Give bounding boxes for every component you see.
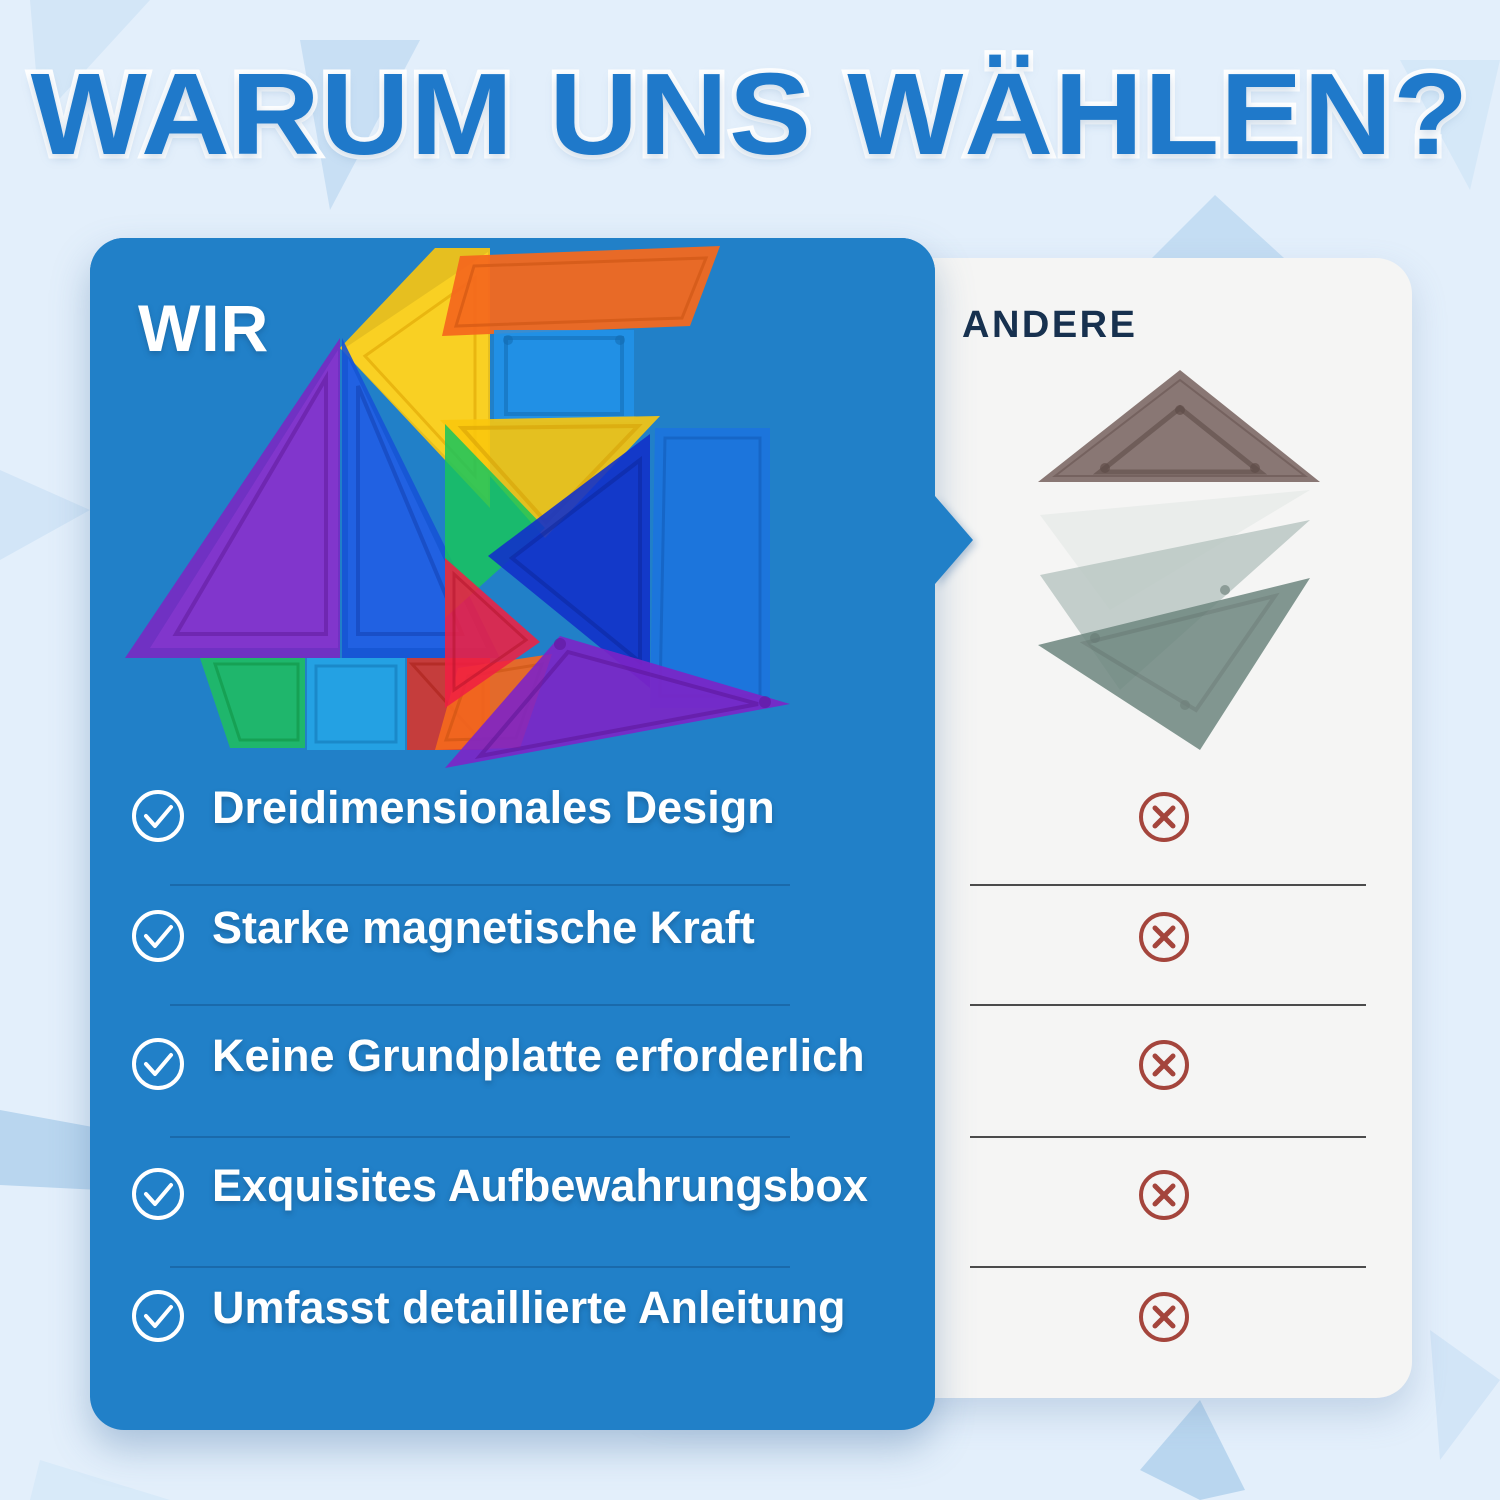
- check-circle-icon: [130, 788, 186, 844]
- feature-label: Umfasst detaillierte Anleitung: [212, 1282, 845, 1334]
- x-circle-icon: [1137, 1168, 1191, 1222]
- others-product-image: [1010, 360, 1350, 750]
- check-circle-icon: [130, 1166, 186, 1222]
- comparison-poster: WARUM UNS WÄHLEN? ANDERE: [0, 0, 1500, 1500]
- x-circle-icon: [1137, 910, 1191, 964]
- feature-row[interactable]: Starke magnetische Kraft: [0, 882, 1500, 1010]
- check-circle-icon: [130, 908, 186, 964]
- check-circle-icon: [130, 1288, 186, 1344]
- feature-row[interactable]: Umfasst detaillierte Anleitung: [0, 1262, 1500, 1390]
- check-circle-icon: [130, 1036, 186, 1092]
- x-circle-icon: [1137, 790, 1191, 844]
- feature-label: Exquisites Aufbewahrungsbox: [212, 1160, 868, 1212]
- others-column-title: ANDERE: [962, 304, 1137, 347]
- feature-label: Keine Grundplatte erforderlich: [212, 1030, 865, 1082]
- feature-row[interactable]: Dreidimensionales Design: [0, 762, 1500, 890]
- us-column-title: WIR: [138, 290, 269, 366]
- x-circle-icon: [1137, 1038, 1191, 1092]
- page-title: WARUM UNS WÄHLEN?: [0, 52, 1500, 177]
- feature-label: Starke magnetische Kraft: [212, 902, 755, 954]
- x-circle-icon: [1137, 1290, 1191, 1344]
- feature-row[interactable]: Exquisites Aufbewahrungsbox: [0, 1140, 1500, 1268]
- feature-label: Dreidimensionales Design: [212, 782, 775, 834]
- feature-row[interactable]: Keine Grundplatte erforderlich: [0, 1010, 1500, 1138]
- arrow-right-icon: [935, 496, 973, 584]
